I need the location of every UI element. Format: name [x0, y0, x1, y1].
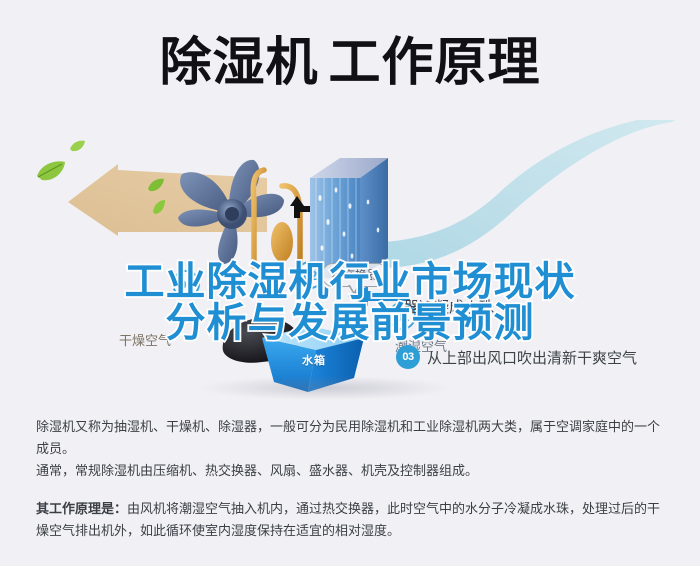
humid-air-band-icon	[378, 120, 678, 270]
poster-page: 除湿机工作原理	[0, 0, 700, 566]
leaf-icon	[70, 140, 85, 152]
leaf-icon	[36, 160, 66, 182]
paragraph-1-line-1: 除湿机又称为抽湿机、干燥机、除湿器，一般可分为民用除湿机和工业除湿机两大类，属于…	[36, 417, 668, 461]
paragraph-1-line-2: 通常，常规除湿机由压缩机、热交换器、风扇、盛水器、机壳及控制器组成。	[36, 461, 668, 483]
paragraph-1: 除湿机又称为抽湿机、干燥机、除湿器，一般可分为民用除湿机和工业除湿机两大类，属于…	[36, 417, 668, 483]
dry-air-label: 干燥空气	[119, 330, 171, 349]
badge-03-step: 03	[396, 345, 420, 369]
callout-tail-icon	[348, 285, 360, 295]
heat-exchanger-callout: 热交换器	[322, 263, 388, 287]
article-body: 除湿机又称为抽湿机、干燥机、除湿器，一般可分为民用除湿机和工业除湿机两大类，属于…	[36, 417, 668, 543]
step-03-text: 从上部出风口吹出清新干爽空气	[427, 347, 637, 368]
title-part-2: 工作原理	[329, 33, 541, 93]
title-part-1: 除湿机	[159, 33, 318, 93]
paragraph-2-rest: 由风机将潮湿空气抽入机内，通过热交换器，此时空气中的水分子冷凝成水珠，处理过后的…	[36, 502, 660, 539]
page-title: 除湿机工作原理	[159, 37, 540, 89]
badge-02: 02	[296, 261, 324, 289]
paragraph-2-lead: 其工作原理是：	[36, 502, 127, 517]
header: 除湿机工作原理	[0, 0, 700, 125]
badge-03: 03	[172, 270, 200, 298]
step-02-text: 器冷凝成水珠	[404, 296, 494, 317]
diagram-shadow	[200, 376, 450, 400]
step-line-02: 器冷凝成水珠	[404, 296, 494, 317]
leaf-icon	[152, 200, 166, 214]
water-tank-label: 水箱	[302, 352, 326, 368]
paragraph-2: 其工作原理是：由风机将潮湿空气抽入机内，通过热交换器，此时空气中的水分子冷凝成水…	[36, 499, 668, 543]
step-line-03: 03 从上部出风口吹出清新干爽空气	[396, 345, 637, 369]
paragraph-2-content: 其工作原理是：由风机将潮湿空气抽入机内，通过热交换器，此时空气中的水分子冷凝成水…	[36, 499, 668, 543]
leaf-icon	[147, 178, 164, 192]
